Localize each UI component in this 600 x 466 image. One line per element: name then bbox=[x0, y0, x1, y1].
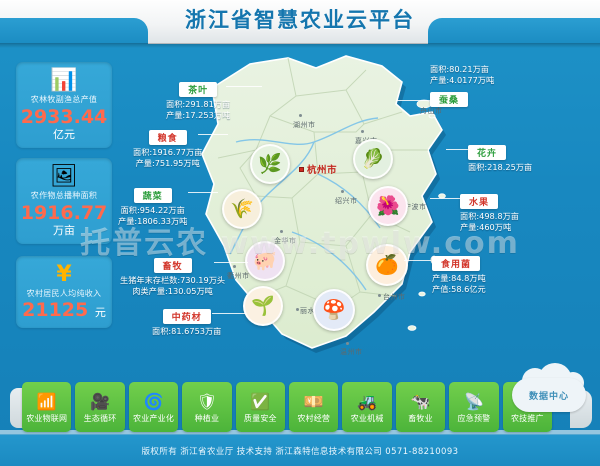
callout-livestock-tag: 畜牧 bbox=[154, 258, 192, 273]
fruit-glyph: 🍊 bbox=[375, 256, 399, 275]
bottom-nav: 📶 农业物联网 🎥 生态循环 🌀 农业产业化 🛡 种植业 ✅ 质量安全 💴 bbox=[0, 378, 600, 434]
vegetable-glyph: 🥬 bbox=[361, 150, 385, 169]
callout-flowers-line-1: 面积:218.25万亩 bbox=[468, 162, 532, 173]
nav-label-emergency-alert: 应急预警 bbox=[458, 413, 491, 424]
leader-flowers bbox=[446, 149, 468, 150]
planting-icon: 🛡 bbox=[197, 393, 217, 411]
stat-unit-rural-income: 元 bbox=[95, 306, 106, 319]
callout-silkworm-line-1: 面积:80.21万亩 bbox=[430, 64, 494, 75]
nav-item-planting[interactable]: 🛡 种植业 bbox=[182, 382, 231, 432]
city-label-shaoxing: 绍兴市 bbox=[335, 196, 358, 206]
city-label-wenzhou: 温州市 bbox=[340, 347, 363, 357]
nav-item-eco-cycle[interactable]: 🎥 生态循环 bbox=[75, 382, 124, 432]
callout-herbs-line-1: 面积:81.6753万亩 bbox=[152, 326, 221, 337]
nav-label-machinery: 农业机械 bbox=[351, 413, 384, 424]
leader-vegetable bbox=[188, 192, 218, 193]
city-dot-huzhou bbox=[299, 114, 302, 117]
city-dot-jinhua bbox=[280, 230, 283, 233]
vegetable-medallion[interactable]: 🥬 bbox=[353, 139, 393, 179]
header-shadow bbox=[0, 43, 600, 48]
stat-title-sown-area: 农作物总播种面积 bbox=[20, 190, 108, 201]
stat-title-total-output: 农林牧副渔总产值 bbox=[20, 94, 108, 105]
tractor-icon: 🚜 bbox=[357, 393, 377, 411]
callout-mushroom-line-2: 产值:58.6亿元 bbox=[432, 284, 486, 295]
nav-item-quality-safety[interactable]: ✅ 质量安全 bbox=[236, 382, 285, 432]
callout-mushroom-line-1: 产量:84.8万吨 bbox=[432, 273, 486, 284]
callout-fruit-line-1: 面积:498.8万亩 bbox=[460, 211, 519, 222]
stat-value-sown-area: 1916.77 bbox=[20, 202, 108, 224]
flower-medallion[interactable]: 🌺 bbox=[368, 186, 408, 226]
city-dot-taizhou bbox=[378, 294, 381, 297]
tea-glyph: 🌿 bbox=[258, 155, 282, 174]
leader-silkworm bbox=[396, 100, 432, 101]
city-label-hangzhou: 杭州市 bbox=[307, 162, 337, 176]
nav-item-rural-management[interactable]: 💴 农村经营 bbox=[289, 382, 338, 432]
stat-value-rural-income: 21125 元 bbox=[20, 299, 108, 321]
stat-number-rural-income: 21125 bbox=[22, 299, 88, 321]
nav-item-emergency-alert[interactable]: 📡 应急预警 bbox=[449, 382, 498, 432]
stat-card-rural-income[interactable]: ¥ 农村居民人均纯收入 21125 元 bbox=[16, 256, 112, 328]
industry-leaf-icon: 🌀 bbox=[144, 393, 164, 411]
leader-grain bbox=[198, 134, 228, 135]
tea-medallion[interactable]: 🌿 bbox=[250, 144, 290, 184]
leader-mushroom bbox=[404, 260, 432, 261]
fruit-medallion[interactable]: 🍊 bbox=[366, 244, 408, 286]
callout-grain-tag: 粮食 bbox=[149, 130, 187, 145]
city-label-zhoushan: 舟山市 bbox=[420, 106, 443, 116]
footer-text: 版权所有 浙江省农业厅 技术支持 浙江森特信息技术有限公司 0571-88210… bbox=[142, 445, 459, 457]
bar-chart-icon: 📊 bbox=[20, 69, 108, 93]
city-label-huzhou: 湖州市 bbox=[293, 120, 316, 130]
callout-mushroom-tag: 食用菌 bbox=[432, 256, 480, 271]
alert-camera-icon: 📡 bbox=[464, 393, 484, 411]
leader-tea bbox=[226, 86, 262, 87]
grain-medallion[interactable]: 🌾 bbox=[222, 189, 262, 229]
eco-cycle-icon: 🎥 bbox=[90, 393, 110, 411]
mushroom-glyph: 🍄 bbox=[322, 301, 346, 320]
livestock-medallion[interactable]: 🐖 bbox=[245, 241, 285, 281]
callout-mushroom[interactable]: 食用菌 产量:84.8万吨 产值:58.6亿元 bbox=[432, 252, 486, 294]
callout-vegetable[interactable]: 蔬菜 面积:954.22万亩 产量:1806.33万吨 bbox=[118, 184, 187, 226]
herb-medallion[interactable]: 🌱 bbox=[243, 286, 283, 326]
stat-unit-sown-area: 万亩 bbox=[20, 224, 108, 237]
page-title: 浙江省智慧农业云平台 bbox=[0, 4, 600, 34]
callout-livestock-line-2: 肉类产量:130.05万吨 bbox=[120, 286, 225, 297]
city-dot-quzhou bbox=[233, 265, 236, 268]
quality-shield-icon: ✅ bbox=[250, 393, 270, 411]
city-dot-wenzhou bbox=[346, 342, 349, 345]
page-footer: 版权所有 浙江省农业厅 技术支持 浙江森特信息技术有限公司 0571-88210… bbox=[0, 434, 600, 466]
callout-grain[interactable]: 粮食 面积:1916.77万亩 产量:751.95万吨 bbox=[133, 126, 202, 168]
nav-item-husbandry[interactable]: 🐄 畜牧业 bbox=[396, 382, 445, 432]
city-dot-jiaxing bbox=[361, 130, 364, 133]
city-label-quzhou: 衢州市 bbox=[227, 271, 250, 281]
animal-husbandry-icon: 🐄 bbox=[411, 393, 431, 411]
callout-fruit-tag: 水果 bbox=[460, 194, 498, 209]
stat-card-total-output[interactable]: 📊 农林牧副渔总产值 2933.44 亿元 bbox=[16, 62, 112, 148]
callout-herbs[interactable]: 中药材 面积:81.6753万亩 bbox=[152, 305, 221, 337]
callout-vegetable-line-1: 面积:954.22万亩 bbox=[118, 205, 187, 216]
callout-tea-tag: 茶叶 bbox=[179, 82, 217, 97]
mushroom-medallion[interactable]: 🍄 bbox=[313, 289, 355, 331]
city-label-taizhou: 台州市 bbox=[383, 292, 406, 302]
callout-livestock-line-1: 生猪年末存栏数:730.19万头 bbox=[120, 275, 225, 286]
nav-label-extension: 农技推广 bbox=[511, 413, 544, 424]
nav-label-eco-cycle: 生态循环 bbox=[84, 413, 117, 424]
callout-grain-line-1: 面积:1916.77万亩 bbox=[133, 147, 202, 158]
stat-value-total-output: 2933.44 bbox=[20, 106, 108, 128]
herb-glyph: 🌱 bbox=[251, 297, 275, 316]
data-center-label: 数据中心 bbox=[512, 378, 586, 412]
yuan-icon: ¥ bbox=[20, 263, 108, 287]
callout-vegetable-line-2: 产量:1806.33万吨 bbox=[118, 216, 187, 227]
stat-card-sown-area[interactable]: 🖼 农作物总播种面积 1916.77 万亩 bbox=[16, 158, 112, 244]
callout-flowers[interactable]: 花卉 面积:218.25万亩 bbox=[468, 141, 532, 173]
callout-livestock[interactable]: 畜牧 生猪年末存栏数:730.19万头 肉类产量:130.05万吨 bbox=[120, 254, 225, 296]
nav-label-iot: 农业物联网 bbox=[26, 413, 67, 424]
callout-tea-line-1: 面积:291.81万亩 bbox=[166, 99, 230, 110]
callout-tea-line-2: 产量:17.253万吨 bbox=[166, 110, 230, 121]
callout-fruit[interactable]: 水果 面积:498.8万亩 产量:460万吨 bbox=[460, 190, 519, 232]
callout-fruit-line-2: 产量:460万吨 bbox=[460, 222, 519, 233]
callout-flowers-tag: 花卉 bbox=[468, 145, 506, 160]
callout-tea[interactable]: 茶叶 面积:291.81万亩 产量:17.253万吨 bbox=[166, 78, 230, 120]
callout-vegetable-tag: 蔬菜 bbox=[134, 188, 172, 203]
iot-chart-icon: 📶 bbox=[37, 393, 57, 411]
callout-silkworm-tag: 蚕桑 bbox=[430, 92, 468, 107]
nav-label-industrialization: 农业产业化 bbox=[133, 413, 174, 424]
nav-label-rural-management: 农村经营 bbox=[297, 413, 330, 424]
area-chart-icon: 🖼 bbox=[20, 165, 108, 189]
callout-herbs-tag: 中药材 bbox=[163, 309, 211, 324]
app-root: 浙江省智慧农业云平台 bbox=[0, 0, 600, 466]
flower-glyph: 🌺 bbox=[376, 197, 400, 216]
city-dot-lishui bbox=[296, 308, 299, 311]
callout-grain-line-2: 产量:751.95万吨 bbox=[133, 158, 202, 169]
nav-label-planting: 种植业 bbox=[195, 413, 220, 424]
capital-dot-hangzhou bbox=[299, 167, 304, 172]
stat-title-rural-income: 农村居民人均纯收入 bbox=[20, 288, 108, 299]
nav-plate: 📶 农业物联网 🎥 生态循环 🌀 农业产业化 🛡 种植业 ✅ 质量安全 💴 bbox=[22, 382, 552, 432]
livestock-glyph: 🐖 bbox=[253, 252, 277, 271]
page-header: 浙江省智慧农业云平台 bbox=[0, 0, 600, 44]
grain-glyph: 🌾 bbox=[230, 200, 254, 219]
nav-item-industrialization[interactable]: 🌀 农业产业化 bbox=[129, 382, 178, 432]
nav-item-iot[interactable]: 📶 农业物联网 bbox=[22, 382, 71, 432]
rural-finance-icon: 💴 bbox=[304, 393, 324, 411]
city-dot-shaoxing bbox=[341, 190, 344, 193]
nav-item-machinery[interactable]: 🚜 农业机械 bbox=[342, 382, 391, 432]
stat-unit-total-output: 亿元 bbox=[20, 128, 108, 141]
callout-silkworm[interactable]: 面积:80.21万亩 产量:4.0177万吨 蚕桑 bbox=[430, 62, 494, 107]
leader-fruit bbox=[430, 198, 460, 199]
nav-label-husbandry: 畜牧业 bbox=[408, 413, 433, 424]
data-center-button[interactable]: 数据中心 bbox=[512, 378, 586, 412]
callout-silkworm-line-2: 产量:4.0177万吨 bbox=[430, 75, 494, 86]
nav-label-quality-safety: 质量安全 bbox=[244, 413, 277, 424]
